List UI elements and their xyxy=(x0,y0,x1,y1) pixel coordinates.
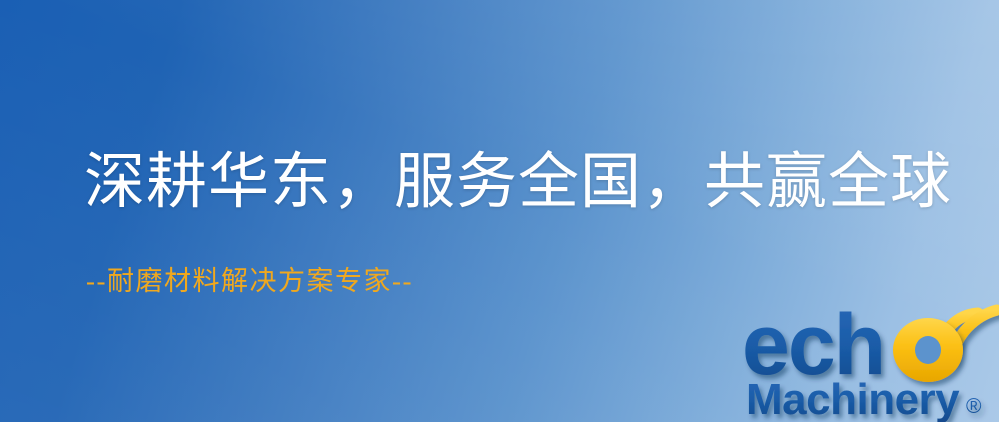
banner-subtitle: --耐磨材料解决方案专家-- xyxy=(86,268,413,295)
echo-machinery-logo: ech Machinery ® xyxy=(742,296,999,422)
banner-headline: 深耕华东，服务全国，共赢全球 xyxy=(84,152,952,213)
logo-letter-o xyxy=(893,318,963,382)
registered-trademark-symbol: ® xyxy=(966,395,982,418)
logo-text-machinery: Machinery ® xyxy=(746,375,982,422)
logo-artwork: ech Machinery ® xyxy=(742,296,999,422)
svg-text:Machinery: Machinery xyxy=(746,375,960,422)
promotional-banner: 深耕华东，服务全国，共赢全球 --耐磨材料解决方案专家-- xyxy=(0,0,999,422)
